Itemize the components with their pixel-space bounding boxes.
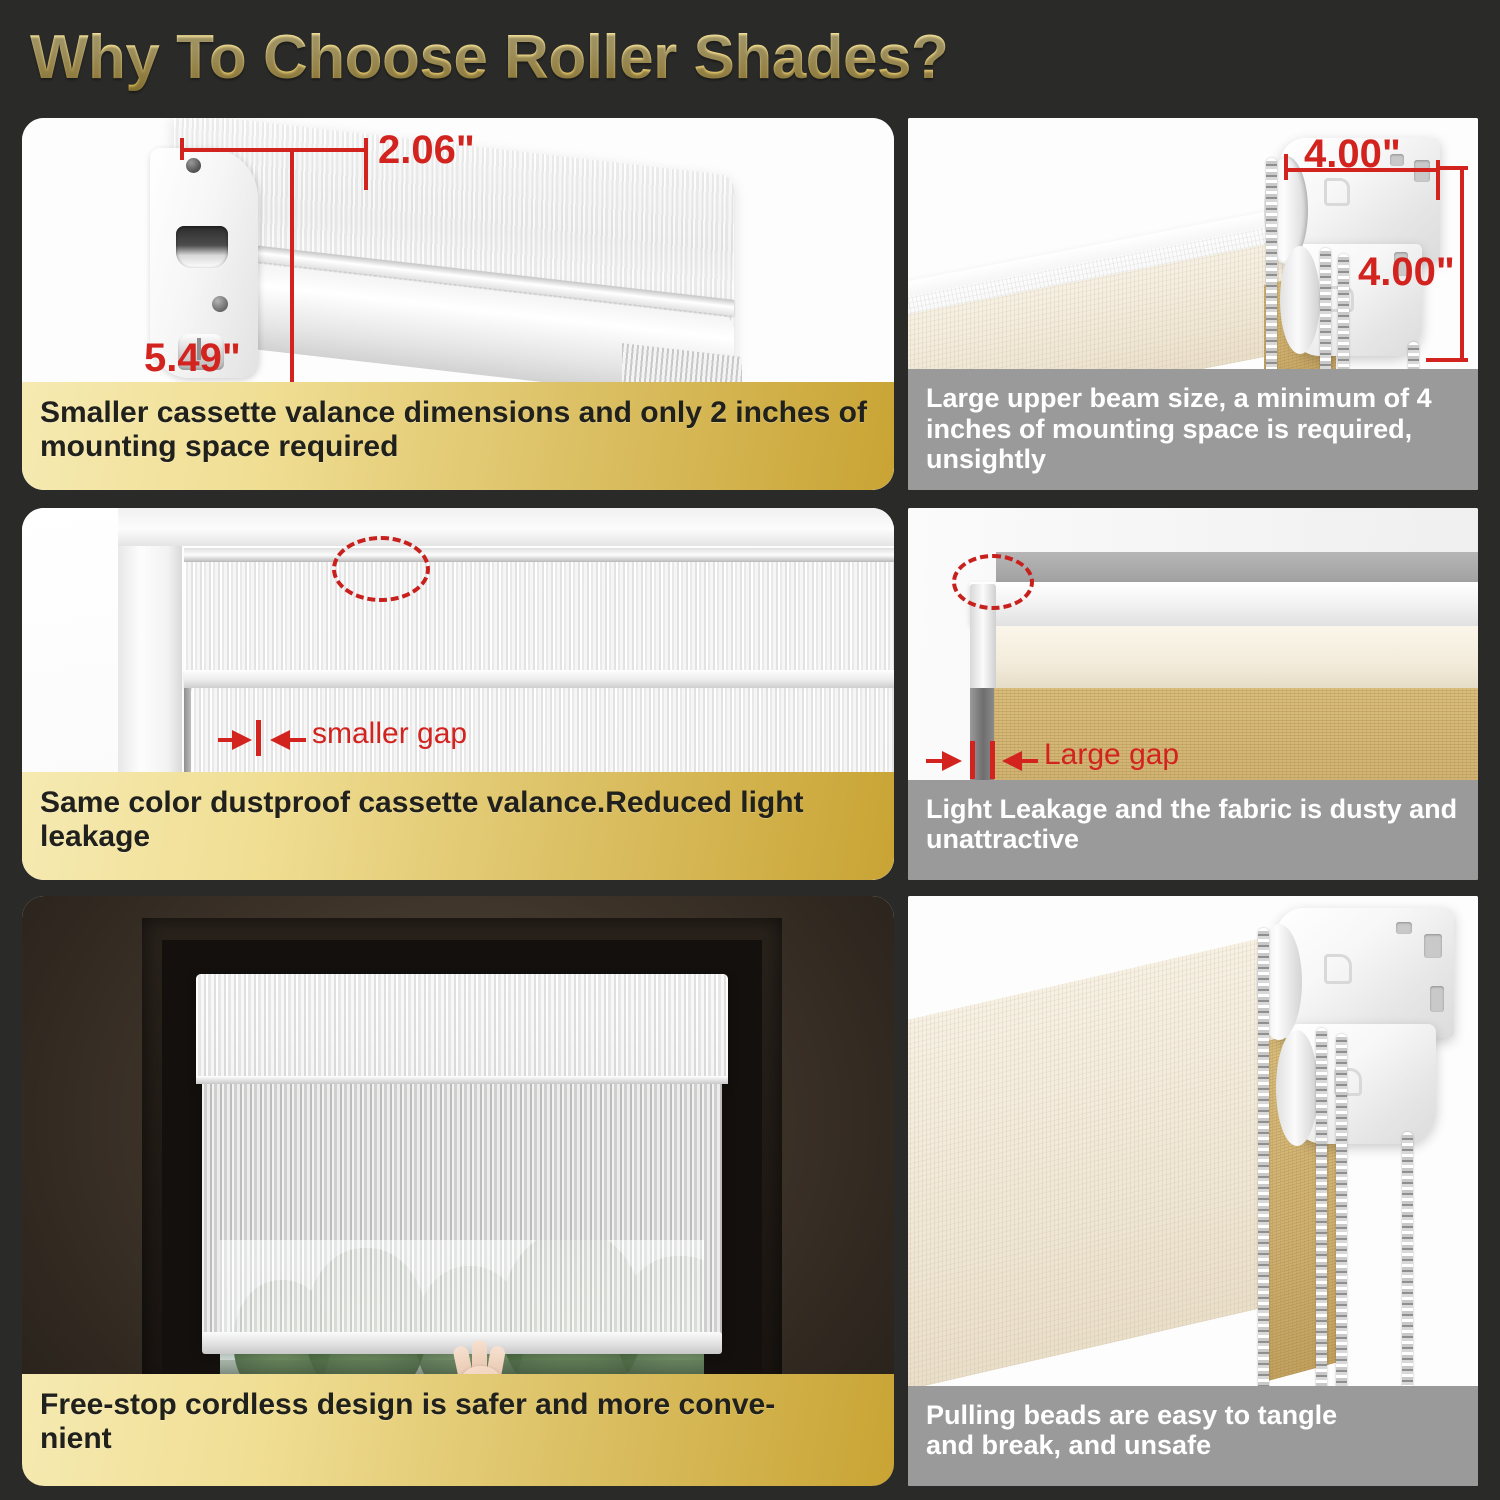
panel-large-upper-beam: 4.00" 4.00" Large upper beam size, a min…	[908, 118, 1478, 490]
cassette-valance	[196, 974, 728, 1082]
panel-dustproof-cassette: smaller gap Same color dustproof cassett…	[22, 508, 894, 880]
detail-highlight-circle	[952, 554, 1034, 610]
dimension-label-beam-width: 4.00"	[1304, 132, 1401, 177]
panel-2-caption: Large upper beam size, a minimum of 4 in…	[908, 369, 1478, 490]
shade-fabric-upper	[184, 562, 894, 670]
gap-marker	[256, 720, 261, 756]
valance-face-cream	[970, 626, 1478, 688]
bead-chain-1	[1258, 928, 1269, 1394]
roller-end-disc-lower	[1280, 246, 1320, 354]
detail-highlight-circle	[332, 536, 430, 602]
dimension-label-beam-height: 4.00"	[1358, 250, 1455, 295]
panel-smaller-cassette: 2.06" 5.49" Smaller cassette valance dim…	[22, 118, 894, 490]
page-title: Why To Choose Roller Shades?	[30, 22, 948, 93]
bead-chain-1	[1266, 158, 1277, 402]
gap-arrow-right	[1002, 751, 1022, 771]
bead-chain-4	[1402, 1132, 1413, 1394]
roller-end-disc-lower	[1276, 1030, 1318, 1146]
gap-arrow-right	[270, 730, 290, 750]
panel-5-caption: Free-stop cordless design is safer and m…	[22, 1374, 894, 1486]
panel-cordless-design: Free-stop cordless design is safer and m…	[22, 896, 894, 1486]
panel-3-caption: Same color dustproof cassette valance.Re…	[22, 772, 894, 880]
cassette-mid-rail	[184, 670, 894, 688]
valance-rail-line	[196, 1076, 728, 1084]
panel-5-caption-line1: Free-stop cordless design is safer and m…	[40, 1388, 775, 1421]
gap-label-large: Large gap	[1044, 738, 1179, 772]
panel-6-caption-line2: and break, and unsafe	[926, 1430, 1211, 1460]
window-frame	[142, 918, 782, 1386]
bead-chain-3	[1336, 1034, 1347, 1394]
dimension-label-height: 5.49"	[144, 336, 241, 381]
dimension-label-width: 2.06"	[378, 128, 475, 173]
panel-6-caption: Pulling beads are easy to tangle and bre…	[908, 1386, 1478, 1486]
gap-label-smaller: smaller gap	[312, 717, 467, 751]
gap-marker-b	[990, 741, 995, 779]
cassette-head-rail	[184, 548, 894, 562]
panel-4-caption: Light Leakage and the fabric is dusty an…	[908, 780, 1478, 880]
end-cap-slot	[176, 226, 228, 268]
panel-5-caption-line2: nient	[40, 1422, 112, 1455]
gap-marker-a	[970, 741, 975, 779]
panel-pulling-beads: Pulling beads are easy to tangle and bre…	[908, 896, 1478, 1486]
panel-6-caption-line1: Pulling beads are easy to tangle	[926, 1400, 1337, 1430]
bead-chain-2	[1316, 1028, 1327, 1394]
panel-light-leakage: Large gap Light Leakage and the fabric i…	[908, 508, 1478, 880]
mounting-bracket-upper	[1276, 908, 1454, 1038]
head-rail-beam	[970, 582, 1478, 630]
window-head-trim	[118, 508, 894, 546]
panel-1-caption: Smaller cassette valance dimensions and …	[22, 382, 894, 490]
roller-shade-fabric	[202, 1084, 722, 1346]
window-opening	[162, 940, 762, 1386]
